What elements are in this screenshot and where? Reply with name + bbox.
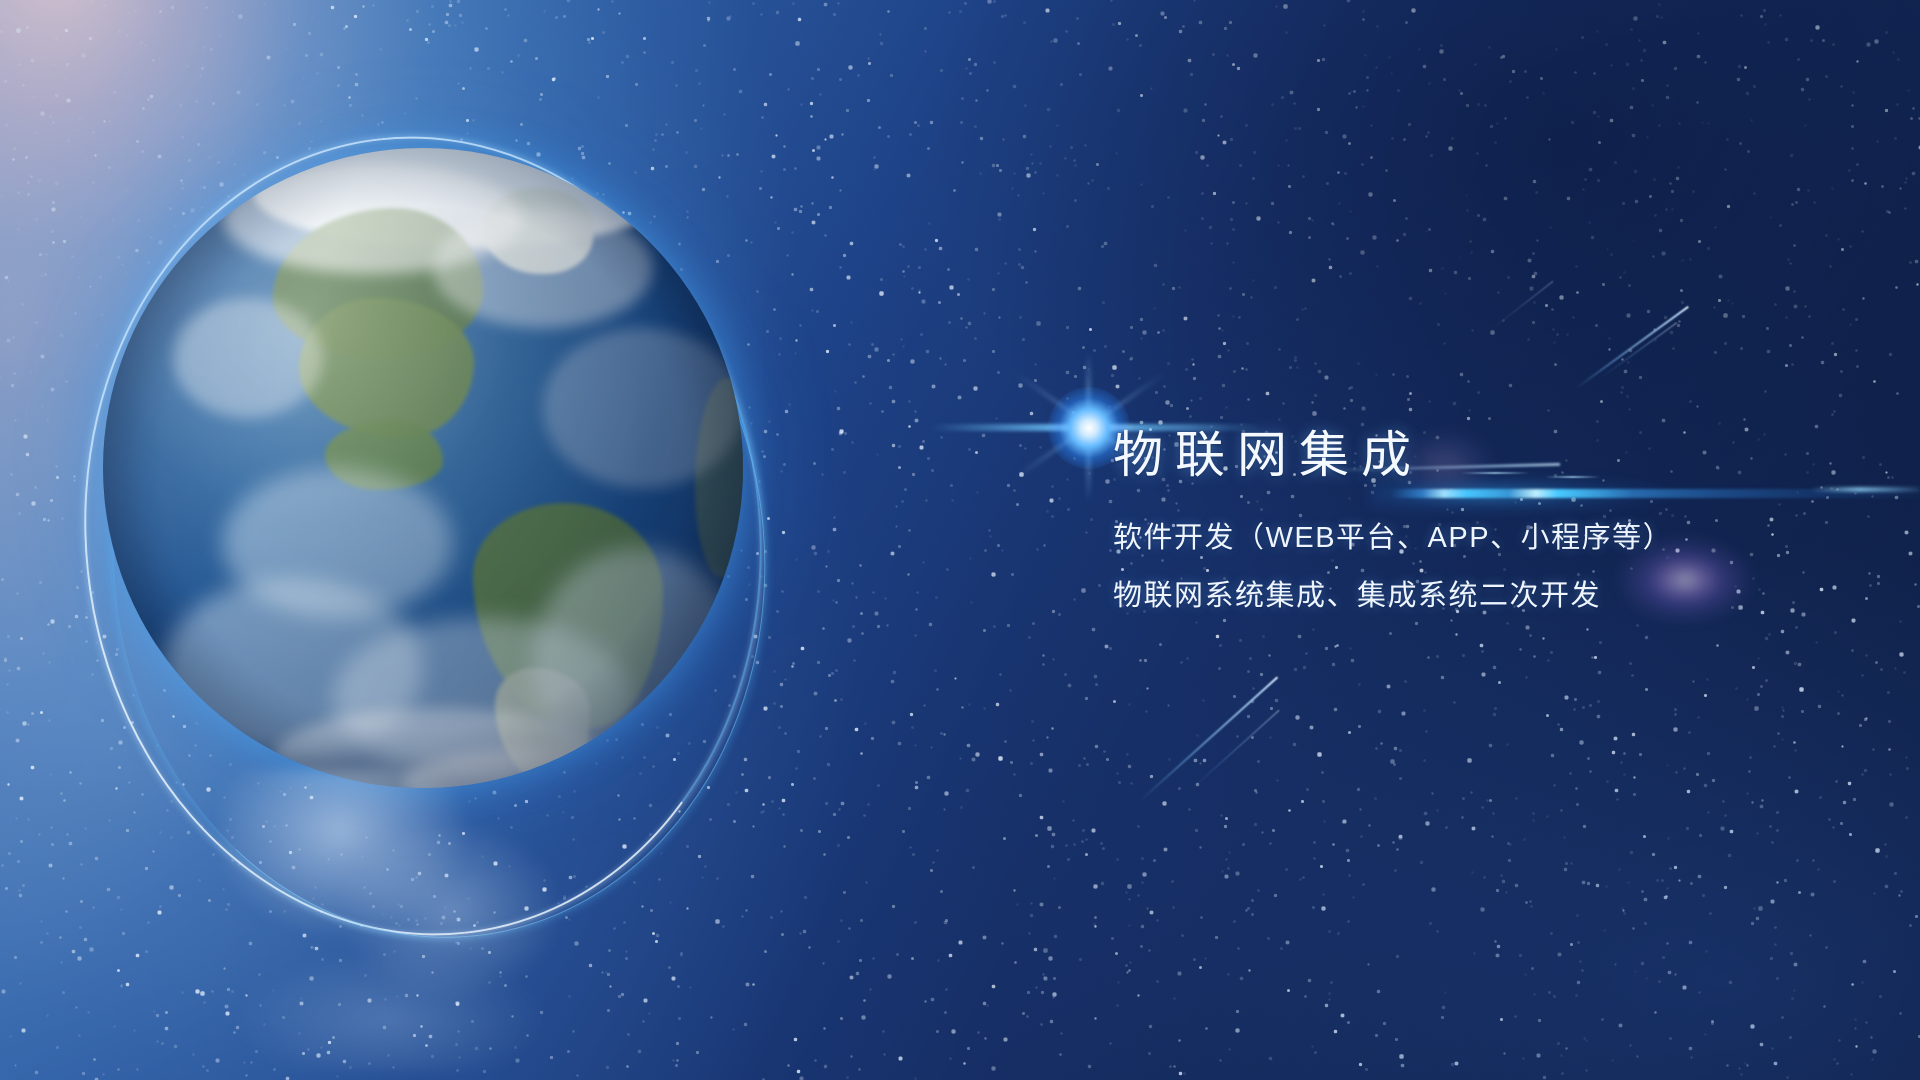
comet-streak (1490, 281, 1554, 331)
comet-streak (1190, 710, 1280, 791)
earth-sphere (103, 148, 743, 788)
earth-globe (103, 148, 743, 788)
hero-subtitle-1: 软件开发（WEB平台、APP、小程序等） (1113, 509, 1873, 567)
hero-subtitle-2: 物联网系统集成、集成系统二次开发 (1113, 567, 1873, 625)
starfield-layer-near (0, 0, 1, 1)
hero-banner: 物联网集成 软件开发（WEB平台、APP、小程序等） 物联网系统集成、集成系统二… (0, 0, 1920, 1080)
starfield-layer-far (0, 0, 1, 1)
page-title: 物联网集成 (1113, 425, 1873, 485)
starfield-layer-mid (0, 0, 1, 1)
comet-streak (1574, 306, 1688, 390)
hero-text-block: 物联网集成 软件开发（WEB平台、APP、小程序等） 物联网系统集成、集成系统二… (1113, 425, 1873, 625)
comet-streak (1139, 676, 1278, 801)
rim-light (103, 148, 743, 788)
comet-streak (1600, 322, 1677, 379)
